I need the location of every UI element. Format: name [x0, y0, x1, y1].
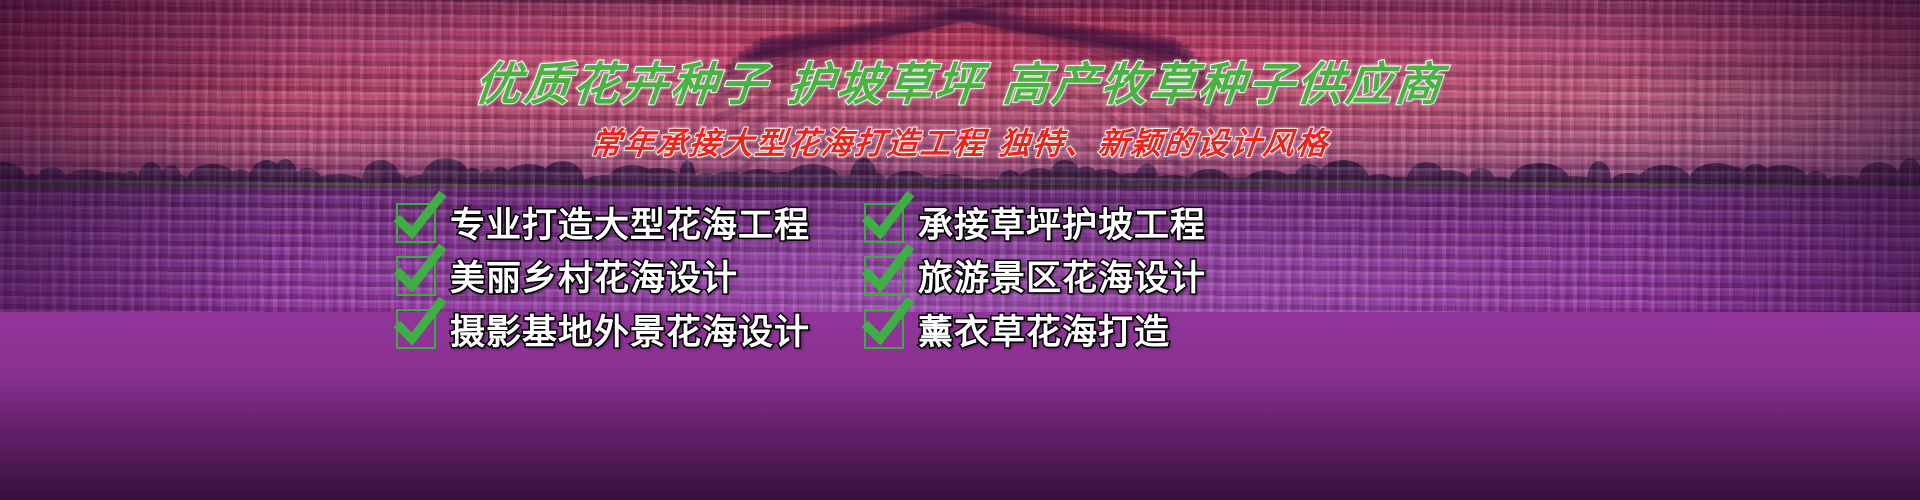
checklist-item: 专业打造大型花海工程 — [396, 196, 848, 249]
checklist-item: 美丽乡村花海设计 — [396, 249, 848, 302]
checklist-item: 薰衣草花海打造 — [858, 303, 1556, 356]
checklist-item: 摄影基地外景花海设计 — [396, 303, 848, 356]
checklist-item-label: 专业打造大型花海工程 — [450, 197, 810, 248]
feature-checklist: 专业打造大型花海工程 承接草坪护坡工程 美丽乡村花海设计 — [396, 196, 1556, 356]
promo-banner: 优质花卉种子 护坡草坪 高产牧草种子供应商 常年承接大型花海打造工程 独特、新颖… — [0, 0, 1920, 500]
checklist-item-label: 摄影基地外景花海设计 — [450, 304, 810, 355]
field-bottom-shadow — [0, 380, 1920, 500]
checklist-item-label: 薰衣草花海打造 — [918, 304, 1170, 355]
checklist-item-label: 美丽乡村花海设计 — [450, 250, 738, 301]
checklist-item-label: 旅游景区花海设计 — [918, 250, 1206, 301]
check-mark-icon — [396, 256, 436, 296]
check-mark-icon — [396, 203, 436, 243]
check-mark-icon — [864, 203, 904, 243]
banner-headline: 优质花卉种子 护坡草坪 高产牧草种子供应商 — [0, 48, 1920, 114]
check-mark-icon — [396, 309, 436, 349]
banner-subtitle: 常年承接大型花海打造工程 独特、新颖的设计风格 — [0, 118, 1920, 163]
check-mark-icon — [864, 256, 904, 296]
checklist-item: 承接草坪护坡工程 — [858, 196, 1556, 249]
check-mark-icon — [864, 309, 904, 349]
checklist-item-label: 承接草坪护坡工程 — [918, 197, 1206, 248]
checklist-item: 旅游景区花海设计 — [858, 249, 1556, 302]
